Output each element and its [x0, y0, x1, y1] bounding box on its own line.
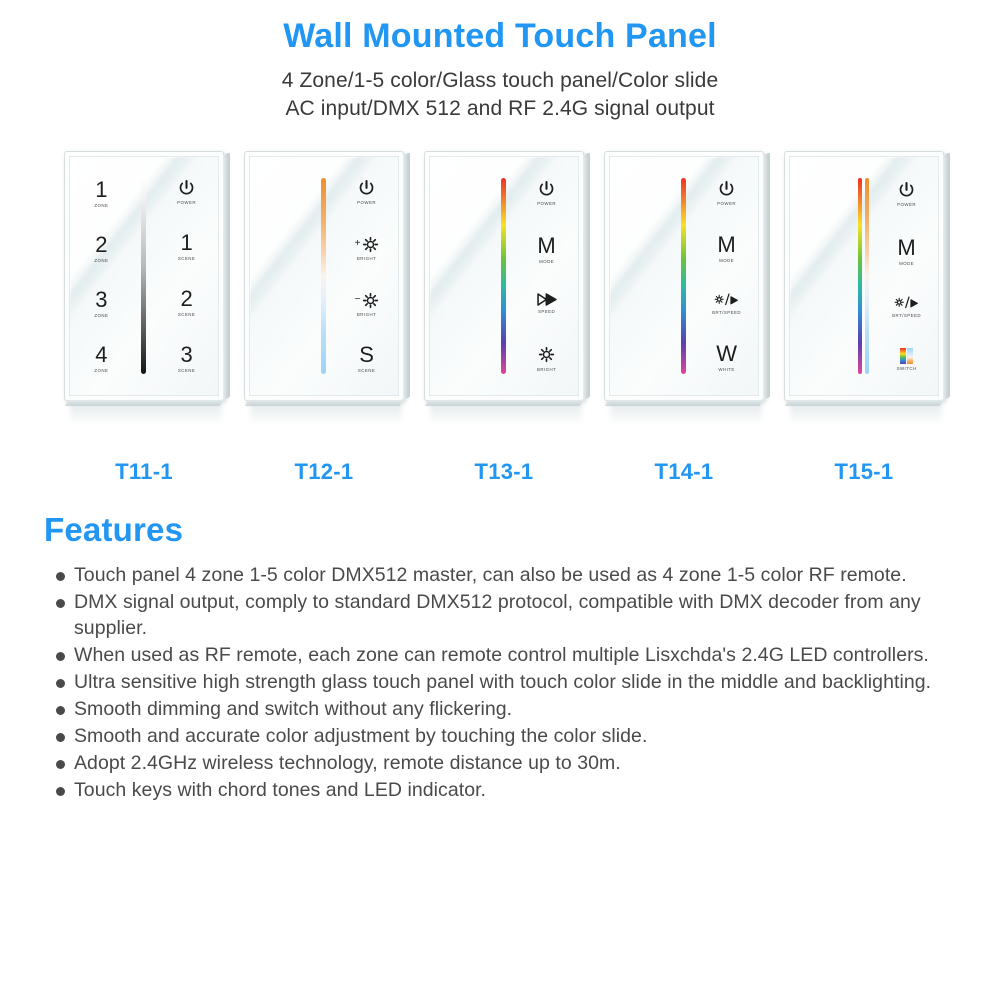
panel-left-key-column — [433, 160, 490, 392]
panel-T12-1-right-key-power[interactable]: POWER — [357, 179, 376, 205]
panel-face: POWER+ BRIGHT− BRIGHTSSCENE — [253, 160, 395, 392]
page-subtitle-line-2: AC input/DMX 512 and RF 2.4G signal outp… — [0, 95, 1000, 123]
features-list: Touch panel 4 zone 1-5 color DMX512 mast… — [44, 563, 960, 803]
key-glyph: 3 — [94, 289, 108, 311]
key-glyph: M — [537, 235, 555, 257]
panel-T11-1-right-key-2[interactable]: 2SCENE — [178, 288, 195, 317]
sun-sign: + — [355, 238, 361, 249]
bullet-icon — [56, 679, 65, 688]
key-sublabel: ZONE — [94, 204, 108, 208]
bullet-icon — [56, 572, 65, 581]
key-sublabel: POWER — [357, 201, 376, 205]
feature-item: Ultra sensitive high strength glass touc… — [44, 670, 960, 696]
power-icon — [357, 179, 376, 198]
key-sublabel: SCENE — [358, 369, 375, 373]
panel-T15-1-right-key-power[interactable]: POWER — [897, 181, 916, 207]
power-icon — [537, 180, 556, 199]
speed-icon — [536, 292, 558, 307]
features-title: Features — [44, 511, 960, 549]
panel-slider-column — [850, 160, 878, 392]
key-sublabel: ZONE — [94, 259, 108, 263]
slider-rgb[interactable] — [858, 178, 862, 374]
panel-T13-1-right-key-m[interactable]: MMODE — [537, 235, 555, 264]
sun-sign: − — [355, 294, 361, 305]
panel-left-key-column — [253, 160, 310, 392]
key-sublabel: BRIGHT — [355, 313, 379, 317]
bullet-icon — [56, 733, 65, 742]
key-glyph: 2 — [178, 288, 195, 310]
model-label: T11-1 — [115, 459, 173, 484]
bullet-icon — [56, 652, 65, 661]
feature-text: DMX signal output, comply to standard DM… — [74, 590, 960, 642]
key-glyph: 1 — [178, 232, 195, 254]
model-label: T15-1 — [835, 459, 894, 484]
panel-T13-1-right-key-speed[interactable]: SPEED — [536, 292, 558, 314]
key-sublabel: POWER — [537, 202, 556, 206]
color-slide[interactable] — [141, 178, 146, 374]
panel-right-key-column: POWERMMODE BRT/SPEEDWWHITE — [698, 160, 755, 392]
key-sublabel: ZONE — [94, 314, 108, 318]
product-panel-row: 1ZONE2ZONE3ZONE4ZONE POWER1SCENE2SCENE3S… — [0, 151, 1000, 451]
panel-left-key-column — [613, 160, 670, 392]
panel-face: 1ZONE2ZONE3ZONE4ZONE POWER1SCENE2SCENE3S… — [73, 160, 215, 392]
key-sublabel: SCENE — [178, 369, 195, 373]
panel-right-key-column: POWER+ BRIGHT− BRIGHTSSCENE — [338, 160, 395, 392]
page-subtitle-line-1: 4 Zone/1-5 color/Glass touch panel/Color… — [0, 67, 1000, 95]
power-icon — [177, 179, 196, 198]
key-glyph: W — [716, 343, 737, 365]
key-glyph: 1 — [94, 179, 108, 201]
color-slide[interactable] — [858, 178, 869, 374]
panel-T14-1-right-key-m[interactable]: MMODE — [717, 234, 735, 263]
key-sublabel: SWITCH — [897, 367, 917, 371]
panel-T12-1-right-key-s[interactable]: SSCENE — [358, 344, 375, 373]
model-label-cell-T14-1: T14-1 — [604, 459, 764, 485]
panel-face: POWERMMODE SPEED BRIGHT — [433, 160, 575, 392]
key-glyph: 2 — [94, 234, 108, 256]
model-label-row: T11-1T12-1T13-1T14-1T15-1 — [0, 459, 1000, 485]
panel-T15-1-right-key-m[interactable]: MMODE — [897, 237, 915, 266]
panel-T15-1-right-key-brt-speed[interactable]: BRT/SPEED — [892, 295, 921, 318]
key-glyph: 4 — [94, 344, 108, 366]
key-sublabel: WHITE — [716, 368, 737, 372]
panel-right-key-column: POWERMMODE BRT/SPEED SWITCH — [878, 160, 935, 392]
panel-T13-1-right-key-sun[interactable]: BRIGHT — [537, 343, 556, 372]
model-label: T12-1 — [295, 459, 354, 484]
panel-slider-column — [130, 160, 158, 392]
key-sublabel: POWER — [177, 201, 196, 205]
feature-item: Smooth and accurate color adjustment by … — [44, 724, 960, 750]
bullet-icon — [56, 787, 65, 796]
touch-panel-device: POWERMMODE BRT/SPEED SWITCH — [784, 151, 944, 401]
slider-grayscale[interactable] — [141, 178, 146, 374]
power-icon — [717, 180, 736, 199]
sun-plus-icon — [362, 236, 379, 253]
sun-icon — [537, 343, 556, 365]
panel-reflection — [610, 403, 762, 425]
feature-text: Touch keys with chord tones and LED indi… — [74, 778, 960, 804]
feature-text: Ultra sensitive high strength glass touc… — [74, 670, 960, 696]
panel-face: POWERMMODE BRT/SPEED SWITCH — [793, 160, 935, 392]
slider-cct[interactable] — [865, 178, 869, 374]
panel-T14-1-right-key-w[interactable]: WWHITE — [716, 343, 737, 372]
panel-T11-1-right-key-1[interactable]: 1SCENE — [178, 232, 195, 261]
panel-slider-column — [310, 160, 338, 392]
feature-text: When used as RF remote, each zone can re… — [74, 643, 960, 669]
panel-reflection — [430, 403, 582, 425]
page-header: Wall Mounted Touch Panel 4 Zone/1-5 colo… — [0, 0, 1000, 123]
feature-text: Touch panel 4 zone 1-5 color DMX512 mast… — [74, 563, 960, 589]
bullet-icon — [56, 706, 65, 715]
panel-T11-1-left-key-3[interactable]: 3ZONE — [94, 289, 108, 318]
power-icon — [897, 181, 916, 200]
product-panel-T11-1: 1ZONE2ZONE3ZONE4ZONE POWER1SCENE2SCENE3S… — [64, 151, 224, 401]
panel-right-key-column: POWERMMODE SPEED BRIGHT — [518, 160, 575, 392]
key-sublabel: ZONE — [94, 369, 108, 373]
bullet-icon — [56, 760, 65, 769]
switch-color-icon — [897, 348, 917, 364]
slider-rgb[interactable] — [681, 178, 686, 374]
slider-cct[interactable] — [321, 178, 326, 374]
panel-slider-column — [490, 160, 518, 392]
touch-panel-device: POWERMMODE BRT/SPEEDWWHITE — [604, 151, 764, 401]
panel-reflection — [790, 403, 942, 425]
model-label-cell-T13-1: T13-1 — [424, 459, 584, 485]
key-glyph: 3 — [178, 344, 195, 366]
brt-speed-icon — [892, 295, 921, 311]
key-sublabel: BRT/SPEED — [892, 314, 921, 318]
bullet-icon — [56, 599, 65, 608]
power-icon — [177, 179, 196, 198]
slider-rgb[interactable] — [501, 178, 506, 374]
model-label: T13-1 — [475, 459, 534, 484]
panel-reflection — [250, 403, 402, 425]
sun-icon — [538, 346, 555, 363]
model-label-cell-T15-1: T15-1 — [784, 459, 944, 485]
power-icon — [357, 179, 376, 198]
feature-text: Adopt 2.4GHz wireless technology, remote… — [74, 751, 960, 777]
power-icon — [897, 181, 916, 200]
power-icon — [537, 180, 556, 199]
key-sublabel: MODE — [717, 259, 735, 263]
switch-color-icon — [897, 348, 917, 364]
feature-item: When used as RF remote, each zone can re… — [44, 643, 960, 669]
product-panel-T14-1: POWERMMODE BRT/SPEEDWWHITE — [604, 151, 764, 401]
touch-panel-device: POWER+ BRIGHT− BRIGHTSSCENE — [244, 151, 404, 401]
color-slide[interactable] — [321, 178, 326, 374]
key-sublabel: POWER — [717, 202, 736, 206]
model-label: T14-1 — [655, 459, 714, 484]
brt-speed-icon — [712, 292, 741, 308]
color-slide[interactable] — [681, 178, 686, 374]
panel-T11-1-left-key-2[interactable]: 2ZONE — [94, 234, 108, 263]
panel-left-key-column: 1ZONE2ZONE3ZONE4ZONE — [73, 160, 130, 392]
feature-item: Touch panel 4 zone 1-5 color DMX512 mast… — [44, 563, 960, 589]
speed-icon — [536, 292, 558, 307]
key-sublabel: MODE — [897, 262, 915, 266]
switch-bar-rgb — [900, 348, 906, 364]
panel-T11-1-left-key-4[interactable]: 4ZONE — [94, 344, 108, 373]
key-glyph: M — [897, 237, 915, 259]
feature-text: Smooth dimming and switch without any fl… — [74, 697, 960, 723]
key-sublabel: BRIGHT — [537, 368, 556, 372]
panel-T15-1-right-key-switch-color[interactable]: SWITCH — [897, 348, 917, 371]
panel-T11-1-left-key-1[interactable]: 1ZONE — [94, 179, 108, 208]
switch-bar-cct — [907, 348, 913, 364]
panel-T11-1-right-key-3[interactable]: 3SCENE — [178, 344, 195, 373]
key-sublabel: POWER — [897, 203, 916, 207]
panel-left-key-column — [793, 160, 850, 392]
sun-plus-icon: + — [355, 232, 379, 254]
key-sublabel: BRT/SPEED — [712, 311, 741, 315]
key-glyph: S — [358, 344, 375, 366]
key-sublabel: SCENE — [178, 313, 195, 317]
key-sublabel: SPEED — [536, 310, 558, 314]
feature-item: Touch keys with chord tones and LED indi… — [44, 778, 960, 804]
feature-item: Adopt 2.4GHz wireless technology, remote… — [44, 751, 960, 777]
product-panel-T12-1: POWER+ BRIGHT− BRIGHTSSCENE — [244, 151, 404, 401]
key-glyph: M — [717, 234, 735, 256]
panel-T11-1-right-key-power[interactable]: POWER — [177, 179, 196, 205]
panel-T12-1-right-key-sun-minus[interactable]: − BRIGHT — [355, 288, 379, 317]
model-label-cell-T12-1: T12-1 — [244, 459, 404, 485]
key-sublabel: SCENE — [178, 257, 195, 261]
feature-text: Smooth and accurate color adjustment by … — [74, 724, 960, 750]
panel-T14-1-right-key-brt-speed[interactable]: BRT/SPEED — [712, 292, 741, 315]
feature-item: DMX signal output, comply to standard DM… — [44, 590, 960, 642]
panel-T13-1-right-key-power[interactable]: POWER — [537, 180, 556, 206]
features-section: Features Touch panel 4 zone 1-5 color DM… — [44, 511, 960, 803]
feature-item: Smooth dimming and switch without any fl… — [44, 697, 960, 723]
panel-reflection — [70, 403, 222, 425]
touch-panel-device: 1ZONE2ZONE3ZONE4ZONE POWER1SCENE2SCENE3S… — [64, 151, 224, 401]
brt-speed-icon — [894, 295, 920, 311]
product-panel-T13-1: POWERMMODE SPEED BRIGHT — [424, 151, 584, 401]
panel-T14-1-right-key-power[interactable]: POWER — [717, 180, 736, 206]
model-label-cell-T11-1: T11-1 — [64, 459, 224, 485]
key-sublabel: MODE — [537, 260, 555, 264]
panel-face: POWERMMODE BRT/SPEEDWWHITE — [613, 160, 755, 392]
panel-slider-column — [670, 160, 698, 392]
panel-T12-1-right-key-sun-plus[interactable]: + BRIGHT — [355, 232, 379, 261]
page-title: Wall Mounted Touch Panel — [0, 18, 1000, 55]
product-panel-T15-1: POWERMMODE BRT/SPEED SWITCH — [784, 151, 944, 401]
sun-minus-icon: − — [355, 288, 379, 310]
key-sublabel: BRIGHT — [355, 257, 379, 261]
color-slide[interactable] — [501, 178, 506, 374]
sun-minus-icon — [362, 292, 379, 309]
brt-speed-icon — [714, 292, 740, 308]
panel-right-key-column: POWER1SCENE2SCENE3SCENE — [158, 160, 215, 392]
touch-panel-device: POWERMMODE SPEED BRIGHT — [424, 151, 584, 401]
power-icon — [717, 180, 736, 199]
